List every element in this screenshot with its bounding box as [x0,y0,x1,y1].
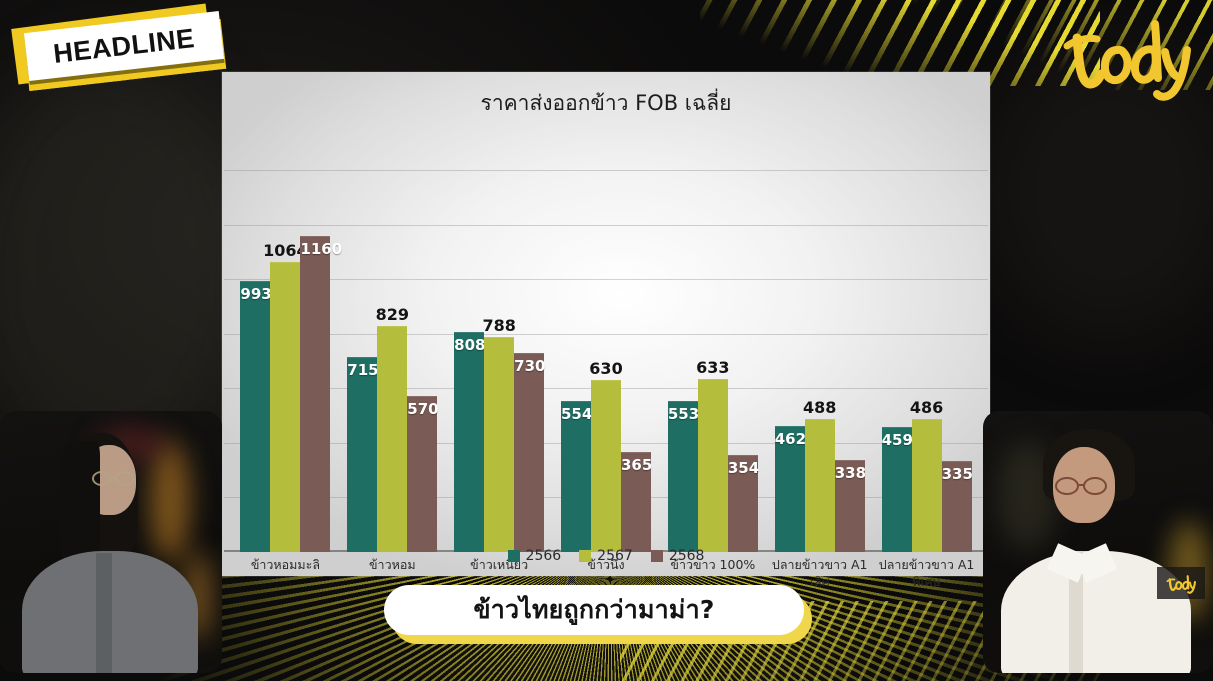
chart-bar-value-label: 338 [835,464,865,482]
chart-bar[interactable]: 459 [882,427,912,552]
chart-legend-swatch [651,550,663,562]
chart-bar-group: 462488338 [766,170,873,552]
chart-legend-label: 2567 [597,548,633,564]
chart-bar-group: 99310641160 [232,170,339,552]
chart-bar-value-label: 488 [793,398,847,417]
chart-bar-value-label: 462 [775,430,805,448]
chart-bar-value-label: 715 [347,361,377,379]
chart-bar-value-label: 365 [621,456,651,474]
chart-bar-groups: 9931064116071582957080878873055463036555… [224,170,988,552]
presenter-left-glasses-left [92,471,111,486]
chart-bar-group: 715829570 [339,170,446,552]
chart-bar-value-label: 633 [686,358,740,377]
presenter-right-glasses-bridge [1079,484,1084,486]
chart-bar-value-label: 808 [454,336,484,354]
chart-bar-value-label: 335 [942,465,972,483]
chart-bar[interactable]: 993 [240,281,270,552]
chart-bar-value-label: 829 [365,305,419,324]
presenter-right-watermark [1157,567,1205,599]
headline-badge: HEADLINE [8,4,238,92]
caption-pill: ข้าวไทยถูกกว่ามาม่า? [384,585,804,635]
presenter-left-glasses-right [115,471,134,486]
chart-legend-item[interactable]: 2568 [651,548,705,564]
presenter-left-shirt-placket [96,553,112,673]
presenter-left-glasses-bridge [111,477,116,479]
chart-bar[interactable]: 365 [621,452,651,552]
chart-bar-value-label: 1160 [300,240,330,258]
chart-bar-group: 554630365 [553,170,660,552]
chart-bar[interactable]: 1064 [270,262,300,552]
today-logo [1061,6,1191,102]
chart-bar-group: 459486335 [873,170,980,552]
chart-bar[interactable]: 829 [377,326,407,552]
chart-panel: ราคาส่งออกข้าว FOB เฉลี่ย 99310641160715… [222,72,990,576]
chart-legend-swatch [579,550,591,562]
chart-bar-group: 808788730 [446,170,553,552]
chart-bar[interactable]: 630 [591,380,621,552]
presenter-left-light-1 [150,441,190,561]
chart-legend-swatch [508,550,520,562]
chart-bar[interactable]: 554 [561,401,591,552]
chart-legend-item[interactable]: 2567 [579,548,633,564]
chart-bar[interactable]: 1160 [300,236,330,553]
chart-bar-value-label: 788 [472,316,526,335]
presenter-right-glasses-left [1055,477,1079,495]
chart-legend-item[interactable]: 2566 [508,548,562,564]
chart-bar[interactable]: 788 [484,337,514,552]
chart-bar-group: 553633354 [659,170,766,552]
chart-bar[interactable]: 486 [912,419,942,552]
chart-legend: 256625672568 [222,548,990,564]
chart-bar[interactable]: 354 [728,455,758,552]
chart-bar-value-label: 630 [579,359,633,378]
chart-bar-value-label: 553 [668,405,698,423]
chart-bar[interactable]: 570 [407,396,437,552]
presenter-right-glasses-right [1083,477,1107,495]
presenter-panel-right[interactable] [983,411,1213,673]
chart-bar[interactable]: 553 [668,401,698,552]
chart-bar-value-label: 730 [514,357,544,375]
chart-bar[interactable]: 715 [347,357,377,552]
chart-bar[interactable]: 730 [514,353,544,552]
chart-title: ราคาส่งออกข้าว FOB เฉลี่ย [222,87,990,120]
headline-badge-label: HEADLINE [52,23,197,70]
chart-bar[interactable]: 338 [835,460,865,552]
chart-bar-value-label: 486 [900,398,954,417]
caption-text: ข้าวไทยถูกกว่ามาม่า? [473,590,714,630]
chart-bar[interactable]: 462 [775,426,805,552]
chart-bar[interactable]: 335 [942,461,972,552]
chart-bar-value-label: 993 [240,285,270,303]
presenter-panel-left[interactable] [0,411,222,673]
chart-bar-value-label: 459 [882,431,912,449]
chart-bar[interactable]: 808 [454,332,484,552]
video-frame: HEADLINE ราคาส่งออกข้าว FOB เฉลี่ย 99310… [0,0,1213,681]
chart-plot-area: 9931064116071582957080878873055463036555… [224,170,988,552]
chart-legend-label: 2568 [669,548,705,564]
chart-bar[interactable]: 633 [698,379,728,552]
chart-bar-value-label: 570 [407,400,437,418]
chart-bar[interactable]: 488 [805,419,835,552]
chart-bar-value-label: 354 [728,459,758,477]
chart-legend-label: 2566 [526,548,562,564]
chart-bar-value-label: 554 [561,405,591,423]
